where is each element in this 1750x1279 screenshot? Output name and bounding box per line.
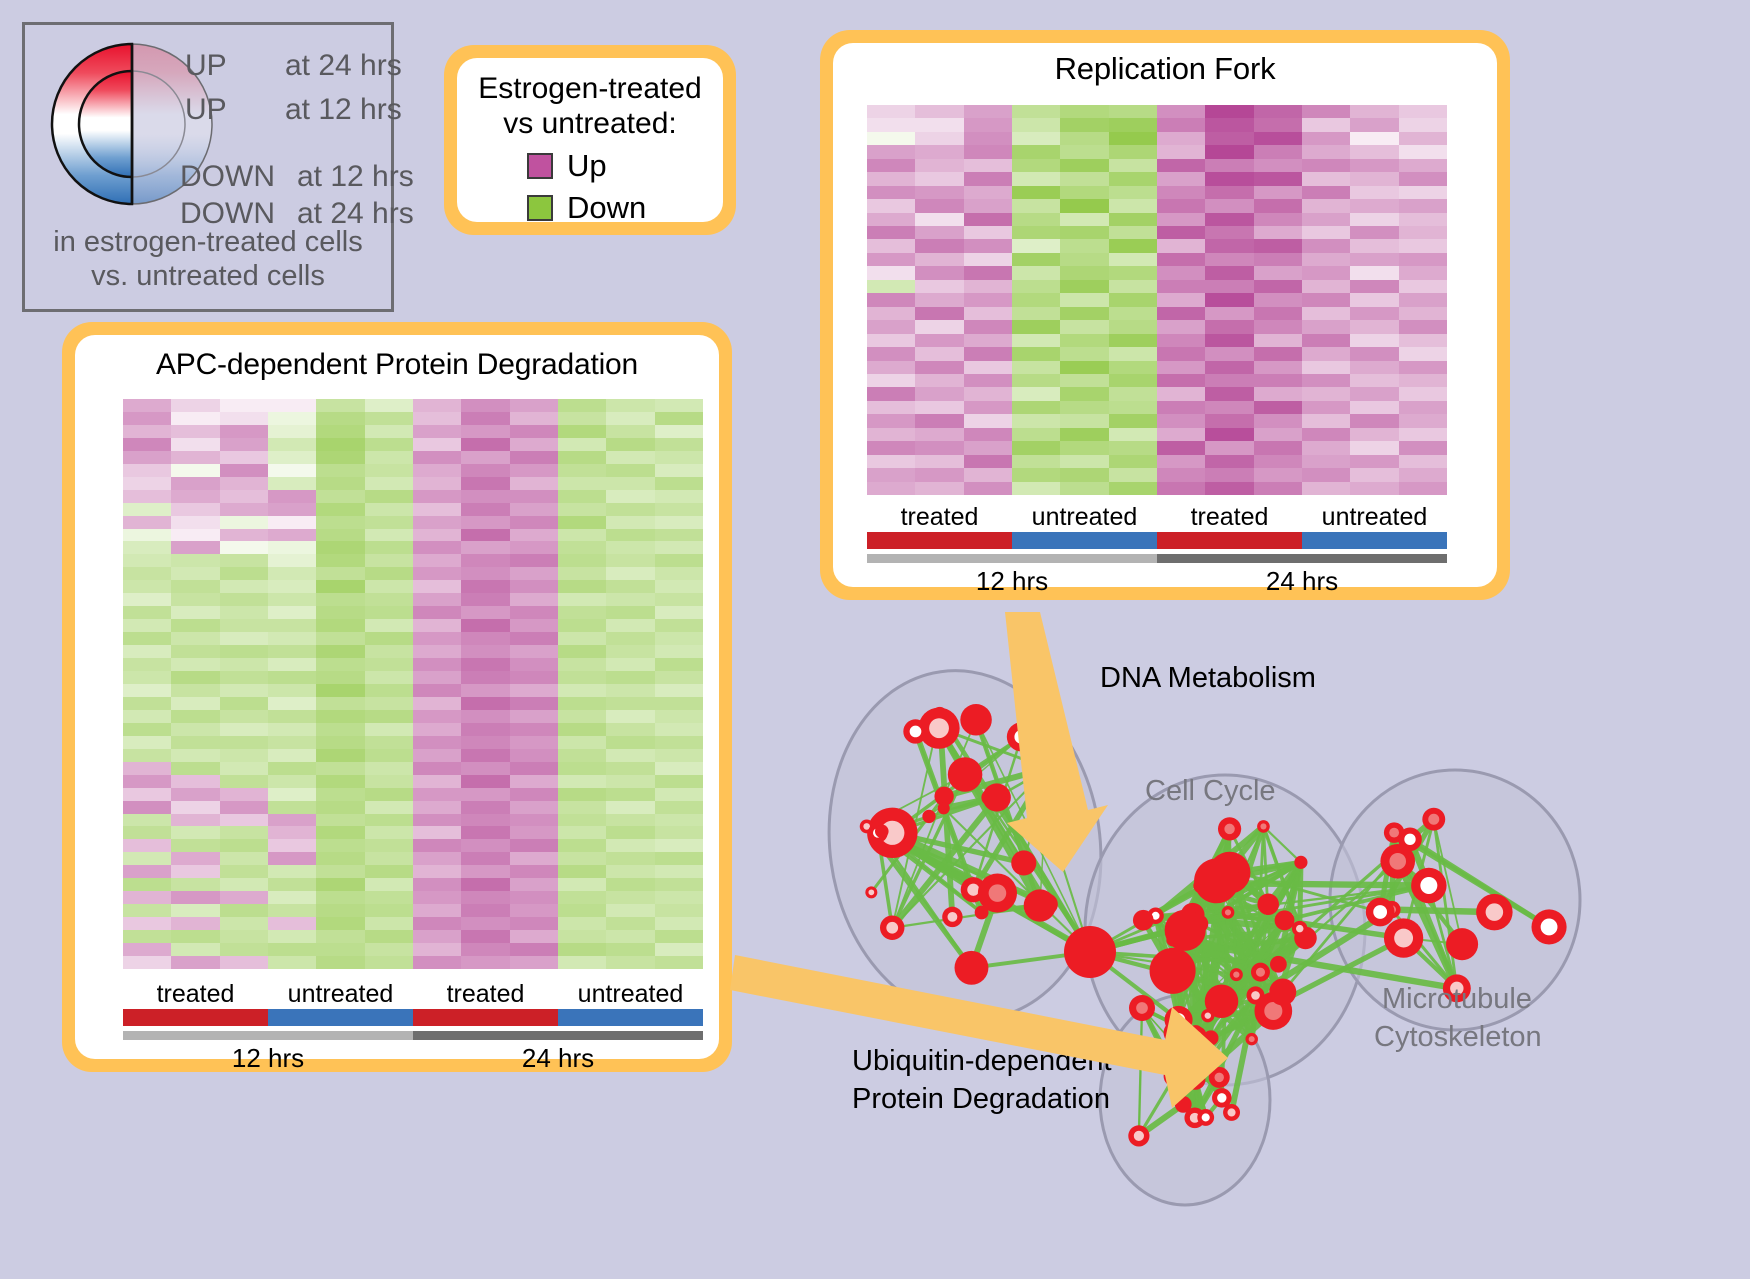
heatmap-cell bbox=[867, 334, 915, 347]
heatmap-cell bbox=[220, 775, 268, 788]
heatmap-cell bbox=[867, 347, 915, 360]
heatmap-cell bbox=[268, 425, 316, 438]
heatmap-cell bbox=[1205, 186, 1253, 199]
heatmap-cell bbox=[1205, 374, 1253, 387]
cluster-label-ubiquitin-line2: Protein Degradation bbox=[852, 1083, 1110, 1116]
heatmap-cell bbox=[1205, 253, 1253, 266]
heatmap-cell bbox=[964, 186, 1012, 199]
heatmap-cell bbox=[1205, 320, 1253, 333]
heatmap-cell bbox=[606, 477, 654, 490]
heatmap-cell bbox=[1157, 428, 1205, 441]
heatmap-cell bbox=[365, 814, 413, 827]
heatmap-cell bbox=[867, 361, 915, 374]
heatmap-cell bbox=[461, 671, 509, 684]
heatmap-cell bbox=[413, 697, 461, 710]
heatmap-cell bbox=[1350, 253, 1398, 266]
heatmap-cell bbox=[1157, 239, 1205, 252]
heatmap-cell bbox=[1302, 118, 1350, 131]
heatmap-cell bbox=[220, 645, 268, 658]
heatmap-cell bbox=[655, 567, 703, 580]
heatmap-cell bbox=[171, 399, 219, 412]
heatmap-cell bbox=[123, 878, 171, 891]
heatmap-cell bbox=[365, 723, 413, 736]
heatmap-cell bbox=[1060, 226, 1108, 239]
heatmap-cell bbox=[964, 482, 1012, 495]
heatmap-cell bbox=[1012, 455, 1060, 468]
heatmap-cell bbox=[123, 619, 171, 632]
heatmap-cell bbox=[1205, 266, 1253, 279]
heatmap-cell bbox=[1205, 132, 1253, 145]
heatmap-cell bbox=[915, 428, 963, 441]
heatmap-cell bbox=[1399, 253, 1447, 266]
heatmap-cell bbox=[1109, 334, 1157, 347]
heatmap-cell bbox=[1350, 347, 1398, 360]
heatmap-cell bbox=[1302, 159, 1350, 172]
heatmap-cell bbox=[268, 684, 316, 697]
heatmap-cell bbox=[915, 307, 963, 320]
heatmap-cell bbox=[220, 412, 268, 425]
heatmap-cell bbox=[655, 684, 703, 697]
ring-legend-value-0: UP bbox=[185, 49, 227, 83]
heatmap-cell bbox=[1399, 468, 1447, 481]
heatmap-cell bbox=[461, 736, 509, 749]
heatmap-cell bbox=[268, 788, 316, 801]
heatmap-cell bbox=[1060, 320, 1108, 333]
heatmap-cell bbox=[171, 956, 219, 969]
heatmap-cell bbox=[413, 956, 461, 969]
heatmap-cell bbox=[1205, 347, 1253, 360]
heatmap-cell bbox=[606, 788, 654, 801]
heatmap-cell bbox=[268, 904, 316, 917]
heatmap-cell bbox=[123, 814, 171, 827]
heatmap-cell bbox=[510, 943, 558, 956]
heatmap-cell bbox=[220, 684, 268, 697]
heatmap-cell bbox=[1302, 213, 1350, 226]
heatmap-cell bbox=[558, 529, 606, 542]
heatmap-cell bbox=[867, 159, 915, 172]
heatmap-cell bbox=[268, 541, 316, 554]
heatmap-cell bbox=[1012, 428, 1060, 441]
heatmap-cell bbox=[655, 852, 703, 865]
heatmap-cell bbox=[365, 645, 413, 658]
heatmap-cell bbox=[510, 697, 558, 710]
heatmap-cell bbox=[915, 414, 963, 427]
heatmap-cell bbox=[867, 145, 915, 158]
heatmap-cell bbox=[365, 839, 413, 852]
heatmap-cell bbox=[123, 788, 171, 801]
heatmap-cell bbox=[1157, 105, 1205, 118]
heatmap-cell bbox=[413, 541, 461, 554]
heatmap-cell bbox=[413, 619, 461, 632]
heatmap-cell bbox=[558, 865, 606, 878]
heatmap-cell bbox=[655, 593, 703, 606]
heatmap-cell bbox=[220, 606, 268, 619]
heatmap-cell bbox=[915, 468, 963, 481]
heatmap-cell bbox=[1060, 253, 1108, 266]
heatmap-cell bbox=[1254, 280, 1302, 293]
heatmap-cell bbox=[171, 619, 219, 632]
heatmap-cell bbox=[171, 839, 219, 852]
pathway-network-diagram: DNA Metabolism Cell Cycle Microtubule Cy… bbox=[790, 600, 1750, 1279]
heatmap-cell bbox=[171, 891, 219, 904]
heatmap-cell bbox=[316, 865, 364, 878]
heatmap-cell bbox=[1157, 199, 1205, 212]
heatmap-cell bbox=[1109, 307, 1157, 320]
heatmap-cell bbox=[123, 645, 171, 658]
heatmap-cell bbox=[220, 801, 268, 814]
heatmap-cell bbox=[606, 775, 654, 788]
heatmap-cell bbox=[1157, 455, 1205, 468]
heatmap-cell bbox=[365, 399, 413, 412]
heatmap-cell bbox=[1302, 172, 1350, 185]
heatmap-cell bbox=[1399, 186, 1447, 199]
heatmap-cell bbox=[964, 361, 1012, 374]
heatmap-cell bbox=[510, 723, 558, 736]
cond-bar-apc-3 bbox=[558, 1009, 703, 1026]
heatmap-cell bbox=[316, 464, 364, 477]
heatmap-cell bbox=[1350, 320, 1398, 333]
heatmap-cell bbox=[365, 464, 413, 477]
heatmap-cell bbox=[1205, 199, 1253, 212]
heatmap-cell bbox=[1157, 186, 1205, 199]
heatmap-cell bbox=[171, 878, 219, 891]
heatmap-cell bbox=[558, 736, 606, 749]
heatmap-cell bbox=[1157, 401, 1205, 414]
heatmap-cell bbox=[123, 425, 171, 438]
heatmap-cell bbox=[316, 749, 364, 762]
heatmap-cell bbox=[655, 451, 703, 464]
heatmap-cell bbox=[171, 814, 219, 827]
heatmap-cell bbox=[461, 684, 509, 697]
heatmap-cell bbox=[606, 554, 654, 567]
heatmap-cell bbox=[123, 529, 171, 542]
heatmap-cell bbox=[558, 490, 606, 503]
heatmap-cell bbox=[1302, 253, 1350, 266]
heatmap-cell bbox=[964, 226, 1012, 239]
heatmap-cell bbox=[1205, 293, 1253, 306]
heatmap-cell bbox=[220, 697, 268, 710]
heatmap-cell bbox=[558, 852, 606, 865]
heatmap-cell bbox=[1205, 226, 1253, 239]
heatmap-cell bbox=[655, 619, 703, 632]
heatmap-cell bbox=[461, 606, 509, 619]
heatmap-cell bbox=[123, 956, 171, 969]
heatmap-cell bbox=[461, 697, 509, 710]
heatmap-cell bbox=[461, 477, 509, 490]
heatmap-cell bbox=[123, 477, 171, 490]
heatmap-cell bbox=[915, 334, 963, 347]
heatmap-cell bbox=[316, 412, 364, 425]
heatmap-cell bbox=[413, 412, 461, 425]
heatmap-cell bbox=[1254, 266, 1302, 279]
legend-label-up: Up bbox=[567, 148, 607, 184]
heatmap-cell bbox=[413, 516, 461, 529]
heatmap-cell bbox=[123, 762, 171, 775]
heatmap-cell bbox=[365, 412, 413, 425]
heatmap-cell bbox=[171, 943, 219, 956]
heatmap-cell bbox=[316, 956, 364, 969]
heatmap-cell bbox=[316, 554, 364, 567]
heatmap-cell bbox=[268, 891, 316, 904]
heatmap-cell bbox=[316, 529, 364, 542]
panel-title-replication-fork: Replication Fork bbox=[833, 43, 1497, 87]
legend-item-down: Down bbox=[527, 190, 723, 226]
heatmap-cell bbox=[268, 930, 316, 943]
heatmap-cell bbox=[655, 788, 703, 801]
heatmap-cell bbox=[915, 132, 963, 145]
time-bar-apc-0 bbox=[123, 1031, 413, 1040]
heatmap-cell bbox=[1012, 482, 1060, 495]
heatmap-cell bbox=[867, 213, 915, 226]
heatmap-cell bbox=[461, 891, 509, 904]
heatmap-cell bbox=[655, 814, 703, 827]
heatmap-cell bbox=[964, 334, 1012, 347]
heatmap-cell bbox=[365, 529, 413, 542]
heatmap-cell bbox=[1205, 145, 1253, 158]
heatmap-cell bbox=[365, 580, 413, 593]
heatmap-cell bbox=[1254, 334, 1302, 347]
heatmap-cell bbox=[461, 943, 509, 956]
heatmap-cell bbox=[220, 878, 268, 891]
heatmap-cell bbox=[123, 736, 171, 749]
ring-legend-time-2: at 12 hrs bbox=[297, 160, 414, 194]
heatmap-cell bbox=[461, 438, 509, 451]
heatmap-cell bbox=[365, 865, 413, 878]
heatmap-cell bbox=[461, 425, 509, 438]
heatmap-cell bbox=[1205, 307, 1253, 320]
heatmap-cell bbox=[365, 619, 413, 632]
heatmap-cell bbox=[365, 541, 413, 554]
heatmap-cell bbox=[316, 839, 364, 852]
heatmap-cell bbox=[655, 904, 703, 917]
panel-apc-degradation: APC-dependent Protein Degradation treate… bbox=[62, 322, 732, 1072]
heatmap-cell bbox=[123, 658, 171, 671]
heatmap-cell bbox=[268, 645, 316, 658]
cond-label-rf-2: treated bbox=[1157, 503, 1302, 532]
heatmap-cell bbox=[1012, 132, 1060, 145]
heatmap-cell bbox=[1012, 320, 1060, 333]
heatmap-cell bbox=[268, 503, 316, 516]
heatmap-cell bbox=[1157, 213, 1205, 226]
heatmap-cell bbox=[558, 839, 606, 852]
heatmap-cell bbox=[606, 736, 654, 749]
heatmap-cell bbox=[915, 320, 963, 333]
heatmap-cell bbox=[1350, 441, 1398, 454]
heatmap-cell bbox=[510, 399, 558, 412]
heatmap-cell bbox=[1302, 455, 1350, 468]
heatmap-cell bbox=[558, 619, 606, 632]
heatmap-cell bbox=[915, 186, 963, 199]
heatmap-cell bbox=[1060, 361, 1108, 374]
heatmap-cell bbox=[316, 697, 364, 710]
heatmap-cell bbox=[867, 186, 915, 199]
time-bar-apc-1 bbox=[413, 1031, 703, 1040]
heatmap-cell bbox=[606, 516, 654, 529]
heatmap-cell bbox=[413, 891, 461, 904]
heatmap-cell bbox=[413, 839, 461, 852]
heatmap-cell bbox=[1350, 132, 1398, 145]
heatmap-cell bbox=[606, 619, 654, 632]
heatmap-cell bbox=[123, 826, 171, 839]
heatmap-cell bbox=[915, 266, 963, 279]
heatmap-cell bbox=[413, 762, 461, 775]
heatmap-cell bbox=[1060, 145, 1108, 158]
heatmap-cell bbox=[268, 632, 316, 645]
heatmap-cell bbox=[606, 930, 654, 943]
heatmap-cell bbox=[1302, 320, 1350, 333]
heatmap-cell bbox=[655, 710, 703, 723]
heatmap-cell bbox=[171, 749, 219, 762]
heatmap-cell bbox=[413, 671, 461, 684]
heatmap-cell bbox=[558, 645, 606, 658]
heatmap-cell bbox=[123, 775, 171, 788]
heatmap-cell bbox=[915, 361, 963, 374]
heatmap-cell bbox=[1254, 172, 1302, 185]
heatmap-cell bbox=[413, 567, 461, 580]
heatmap-cell bbox=[365, 684, 413, 697]
heatmap-cell bbox=[915, 401, 963, 414]
heatmap-cell bbox=[964, 428, 1012, 441]
heatmap-cell bbox=[220, 529, 268, 542]
heatmap-cell bbox=[606, 697, 654, 710]
heatmap-cell bbox=[867, 280, 915, 293]
heatmap-cell bbox=[510, 749, 558, 762]
heatmap-cell bbox=[606, 658, 654, 671]
heatmap-cell bbox=[461, 658, 509, 671]
heatmap-cell bbox=[1350, 468, 1398, 481]
heatmap-cell bbox=[365, 438, 413, 451]
heatmap-cell bbox=[510, 852, 558, 865]
heatmap-cell bbox=[510, 801, 558, 814]
cond-label-apc-1: untreated bbox=[268, 980, 413, 1009]
heatmap-cell bbox=[220, 749, 268, 762]
heatmap-cell bbox=[606, 891, 654, 904]
heatmap-cell bbox=[1060, 159, 1108, 172]
heatmap-cell bbox=[510, 632, 558, 645]
heatmap-cell bbox=[867, 401, 915, 414]
heatmap-cell bbox=[606, 425, 654, 438]
heatmap-cell bbox=[220, 788, 268, 801]
heatmap-cell bbox=[413, 788, 461, 801]
heatmap-cell bbox=[316, 490, 364, 503]
heatmap-cell bbox=[867, 374, 915, 387]
cluster-label-ubiquitin-line1: Ubiquitin-dependent bbox=[852, 1045, 1112, 1078]
heatmap-cell bbox=[220, 671, 268, 684]
heatmap-cell bbox=[1157, 145, 1205, 158]
heatmap-cell bbox=[510, 645, 558, 658]
heatmap-cell bbox=[1254, 159, 1302, 172]
heatmap-cell bbox=[413, 852, 461, 865]
heatmap-cell bbox=[867, 320, 915, 333]
heatmap-cell bbox=[1350, 199, 1398, 212]
heatmap-cell bbox=[606, 762, 654, 775]
heatmap-cell bbox=[1302, 482, 1350, 495]
heatmap-replication-fork bbox=[867, 105, 1447, 495]
heatmap-cell bbox=[1060, 414, 1108, 427]
heatmap-cell bbox=[1109, 387, 1157, 400]
heatmap-cell bbox=[915, 441, 963, 454]
heatmap-cell bbox=[461, 710, 509, 723]
heatmap-cell bbox=[1254, 414, 1302, 427]
condition-colorbar-apc bbox=[123, 1009, 703, 1026]
heatmap-cell bbox=[268, 775, 316, 788]
heatmap-cell bbox=[655, 645, 703, 658]
heatmap-cell bbox=[1399, 361, 1447, 374]
heatmap-cell bbox=[123, 580, 171, 593]
heatmap-cell bbox=[1350, 361, 1398, 374]
heatmap-cell bbox=[655, 930, 703, 943]
heatmap-cell bbox=[1399, 280, 1447, 293]
heatmap-cell bbox=[510, 554, 558, 567]
heatmap-cell bbox=[1060, 213, 1108, 226]
heatmap-cell bbox=[413, 399, 461, 412]
heatmap-cell bbox=[964, 387, 1012, 400]
heatmap-cell bbox=[558, 503, 606, 516]
heatmap-cell bbox=[123, 490, 171, 503]
heatmap-cell bbox=[510, 658, 558, 671]
heatmap-cell bbox=[558, 412, 606, 425]
heatmap-cell bbox=[1109, 199, 1157, 212]
heatmap-cell bbox=[123, 749, 171, 762]
heatmap-cell bbox=[1205, 401, 1253, 414]
heatmap-cell bbox=[171, 671, 219, 684]
heatmap-cell bbox=[171, 801, 219, 814]
heatmap-cell bbox=[964, 145, 1012, 158]
heatmap-cell bbox=[365, 749, 413, 762]
heatmap-cell bbox=[558, 567, 606, 580]
heatmap-cell bbox=[413, 865, 461, 878]
heatmap-cell bbox=[1060, 172, 1108, 185]
heatmap-cell bbox=[606, 632, 654, 645]
cond-label-rf-1: untreated bbox=[1012, 503, 1157, 532]
heatmap-cell bbox=[220, 503, 268, 516]
heatmap-cell bbox=[316, 477, 364, 490]
heatmap-cell bbox=[171, 775, 219, 788]
heatmap-cell bbox=[123, 541, 171, 554]
heatmap-cell bbox=[461, 412, 509, 425]
heatmap-cell bbox=[1399, 239, 1447, 252]
heatmap-cell bbox=[171, 788, 219, 801]
heatmap-cell bbox=[655, 671, 703, 684]
heatmap-cell bbox=[964, 374, 1012, 387]
panel-title-apc: APC-dependent Protein Degradation bbox=[75, 335, 719, 382]
heatmap-cell bbox=[558, 917, 606, 930]
heatmap-cell bbox=[1399, 199, 1447, 212]
heatmap-cell bbox=[1254, 361, 1302, 374]
heatmap-cell bbox=[1060, 347, 1108, 360]
cond-label-apc-3: untreated bbox=[558, 980, 703, 1009]
heatmap-cell bbox=[461, 580, 509, 593]
ring-legend-time-0: at 24 hrs bbox=[285, 49, 402, 83]
heatmap-cell bbox=[1205, 482, 1253, 495]
heatmap-cell bbox=[171, 425, 219, 438]
heatmap-cell bbox=[915, 118, 963, 131]
heatmap-cell bbox=[655, 865, 703, 878]
heatmap-cell bbox=[1254, 118, 1302, 131]
heatmap-cell bbox=[915, 239, 963, 252]
heatmap-cell bbox=[606, 399, 654, 412]
heatmap-cell bbox=[1060, 239, 1108, 252]
heatmap-cell bbox=[1254, 482, 1302, 495]
heatmap-cell bbox=[220, 956, 268, 969]
heatmap-cell bbox=[558, 930, 606, 943]
heatmap-cell bbox=[1254, 455, 1302, 468]
heatmap-cell bbox=[1399, 172, 1447, 185]
heatmap-cell bbox=[316, 684, 364, 697]
heatmap-cell bbox=[123, 438, 171, 451]
heatmap-cell bbox=[655, 412, 703, 425]
heatmap-apc-degradation bbox=[123, 399, 703, 969]
